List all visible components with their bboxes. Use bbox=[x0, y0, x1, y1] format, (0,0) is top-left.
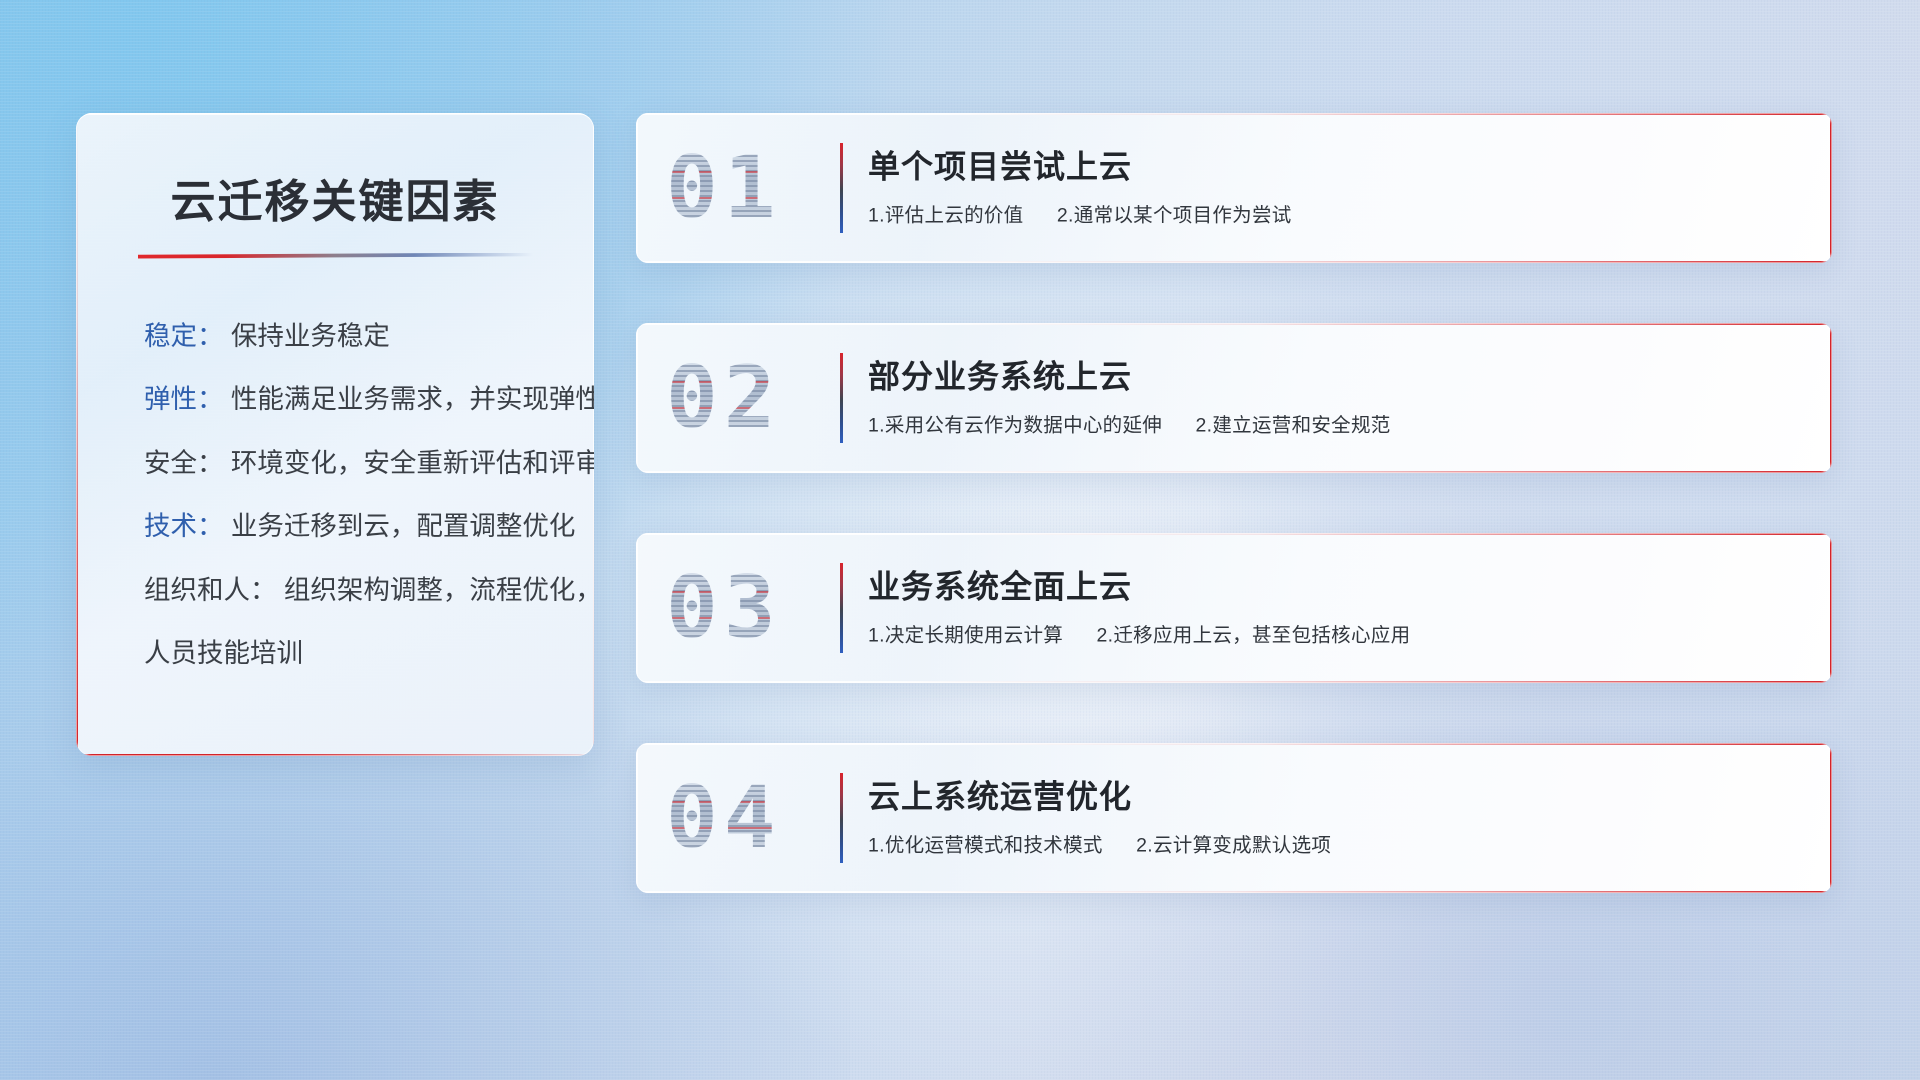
step-number-01: 01 bbox=[666, 145, 782, 231]
panel-content: 云迁移关键因素 稳定： 保持业务稳定 弹性： 性能满足业务需求，并实现弹性 安全… bbox=[76, 113, 594, 756]
card-left-edge bbox=[636, 743, 638, 893]
factor-key: 安全： bbox=[144, 448, 224, 478]
card-top-edge bbox=[636, 323, 1832, 325]
step-title: 部分业务系统上云 bbox=[868, 359, 1391, 396]
factor-item-elasticity: 弹性： 性能满足业务需求，并实现弹性 bbox=[144, 386, 560, 413]
card-right-accent bbox=[1830, 323, 1832, 473]
step-point-1: 1.评估上云的价值 bbox=[868, 204, 1023, 226]
factor-value: 保持业务稳定 bbox=[231, 321, 390, 351]
factor-key: 组织和人： bbox=[144, 575, 277, 605]
card-bottom-edge bbox=[636, 681, 1832, 683]
step-card-04[interactable]: 04 云上系统运营优化 1.优化运营模式和技术模式 2.云计算变成默认选项 bbox=[636, 743, 1832, 893]
step-point-2: 2.迁移应用上云，甚至包括核心应用 bbox=[1097, 624, 1411, 646]
step-card-01[interactable]: 01 单个项目尝试上云 1.评估上云的价值 2.通常以某个项目作为尝试 bbox=[636, 113, 1832, 263]
card-top-edge bbox=[636, 743, 1832, 745]
factor-key: 技术： bbox=[144, 511, 224, 541]
factor-item-organization-continued: 人员技能培训 bbox=[144, 640, 560, 667]
migration-steps-list: 01 单个项目尝试上云 1.评估上云的价值 2.通常以某个项目作为尝试 02 部… bbox=[636, 113, 1832, 893]
card-bottom-edge bbox=[636, 891, 1832, 893]
page-title: 云迁移关键因素 bbox=[110, 177, 560, 227]
card-right-accent bbox=[1830, 533, 1832, 683]
card-divider-line bbox=[840, 773, 843, 863]
card-top-edge bbox=[636, 533, 1832, 535]
step-title: 业务系统全面上云 bbox=[868, 569, 1410, 606]
card-divider-line bbox=[840, 563, 843, 653]
factor-item-stability: 稳定： 保持业务稳定 bbox=[144, 323, 560, 350]
step-card-02[interactable]: 02 部分业务系统上云 1.采用公有云作为数据中心的延伸 2.建立运营和安全规范 bbox=[636, 323, 1832, 473]
card-text-block: 单个项目尝试上云 1.评估上云的价值 2.通常以某个项目作为尝试 bbox=[868, 149, 1292, 228]
step-points: 1.决定长期使用云计算 2.迁移应用上云，甚至包括核心应用 bbox=[868, 618, 1410, 647]
card-right-accent bbox=[1830, 743, 1832, 893]
factor-value-continued: 人员技能培训 bbox=[144, 638, 303, 668]
factor-key: 稳定： bbox=[144, 321, 224, 351]
card-divider-line bbox=[840, 353, 843, 443]
factor-key: 弹性： bbox=[144, 384, 224, 414]
factor-list: 稳定： 保持业务稳定 弹性： 性能满足业务需求，并实现弹性 安全： 环境变化，安… bbox=[110, 323, 560, 667]
card-left-edge bbox=[636, 323, 638, 473]
step-title: 单个项目尝试上云 bbox=[868, 149, 1292, 186]
step-point-1: 1.决定长期使用云计算 bbox=[868, 624, 1063, 646]
card-text-block: 云上系统运营优化 1.优化运营模式和技术模式 2.云计算变成默认选项 bbox=[868, 779, 1331, 858]
step-point-2: 2.云计算变成默认选项 bbox=[1136, 834, 1331, 856]
factor-item-technology: 技术： 业务迁移到云，配置调整优化 bbox=[144, 513, 560, 540]
card-right-accent bbox=[1830, 113, 1832, 263]
card-bottom-edge bbox=[636, 261, 1832, 263]
factor-item-security: 安全： 环境变化，安全重新评估和评审 bbox=[144, 450, 560, 477]
title-underline-rule bbox=[138, 253, 533, 259]
card-top-edge bbox=[636, 113, 1832, 115]
factor-item-organization: 组织和人： 组织架构调整，流程优化， bbox=[144, 577, 560, 604]
step-number-03: 03 bbox=[666, 565, 782, 651]
card-left-edge bbox=[636, 533, 638, 683]
card-bottom-edge bbox=[636, 471, 1832, 473]
step-points: 1.优化运营模式和技术模式 2.云计算变成默认选项 bbox=[868, 828, 1331, 857]
card-divider-line bbox=[840, 143, 843, 233]
factor-value: 业务迁移到云，配置调整优化 bbox=[231, 511, 576, 541]
factor-value: 性能满足业务需求，并实现弹性 bbox=[231, 384, 594, 414]
step-point-1: 1.采用公有云作为数据中心的延伸 bbox=[868, 414, 1162, 436]
factor-value: 环境变化，安全重新评估和评审 bbox=[231, 448, 594, 478]
step-points: 1.评估上云的价值 2.通常以某个项目作为尝试 bbox=[868, 198, 1292, 227]
card-left-edge bbox=[636, 113, 638, 263]
key-factors-panel: 云迁移关键因素 稳定： 保持业务稳定 弹性： 性能满足业务需求，并实现弹性 安全… bbox=[76, 113, 594, 756]
step-point-2: 2.建立运营和安全规范 bbox=[1196, 414, 1391, 436]
card-text-block: 部分业务系统上云 1.采用公有云作为数据中心的延伸 2.建立运营和安全规范 bbox=[868, 359, 1391, 438]
step-points: 1.采用公有云作为数据中心的延伸 2.建立运营和安全规范 bbox=[868, 408, 1391, 437]
step-number-04: 04 bbox=[666, 775, 782, 861]
step-number-02: 02 bbox=[666, 355, 782, 441]
step-title: 云上系统运营优化 bbox=[868, 779, 1331, 816]
step-point-1: 1.优化运营模式和技术模式 bbox=[868, 834, 1103, 856]
factor-value: 组织架构调整，流程优化， bbox=[284, 575, 594, 605]
step-card-03[interactable]: 03 业务系统全面上云 1.决定长期使用云计算 2.迁移应用上云，甚至包括核心应… bbox=[636, 533, 1832, 683]
card-text-block: 业务系统全面上云 1.决定长期使用云计算 2.迁移应用上云，甚至包括核心应用 bbox=[868, 569, 1410, 648]
step-point-2: 2.通常以某个项目作为尝试 bbox=[1057, 204, 1292, 226]
